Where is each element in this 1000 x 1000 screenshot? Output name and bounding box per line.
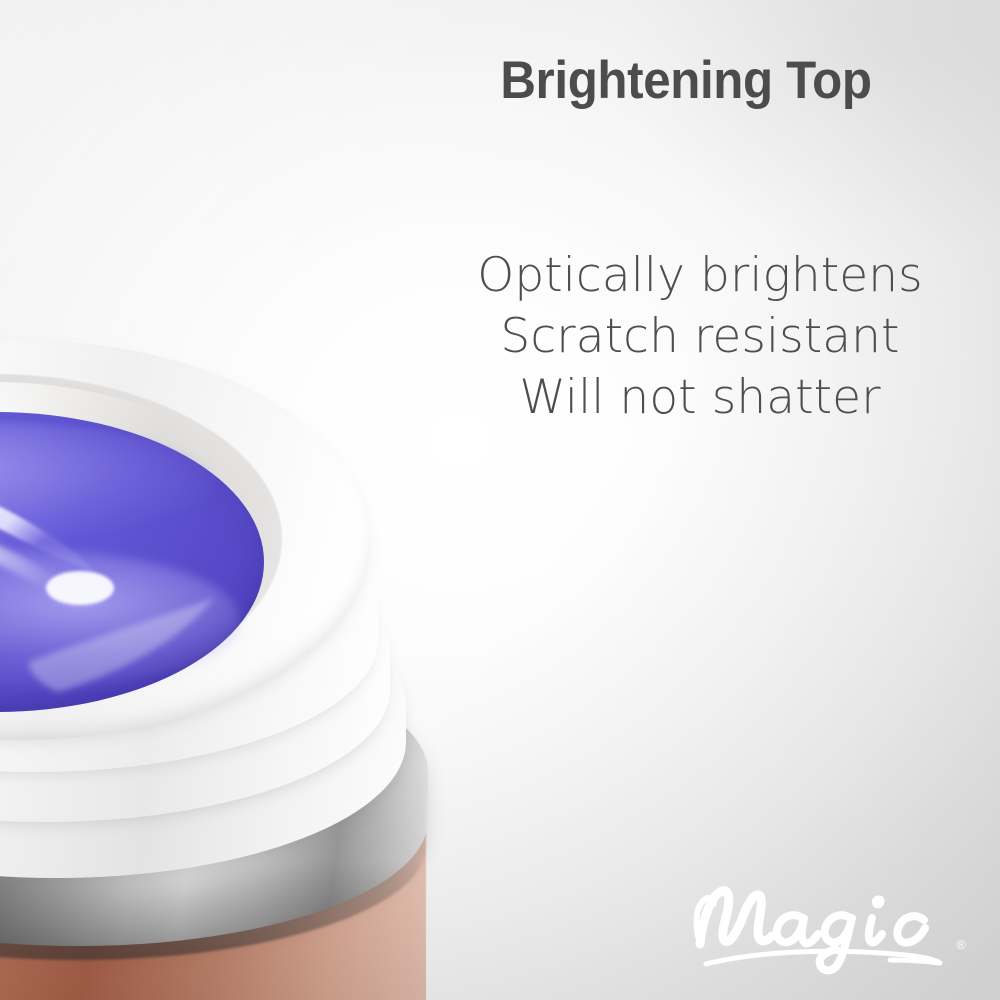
gel-gloss-highlight	[0, 412, 264, 712]
feature-item-3: Will not shatter	[400, 367, 1000, 428]
feature-list: Optically brightens Scratch resistant Wi…	[0, 245, 1000, 428]
feature-item-1: Optically brightens	[400, 245, 1000, 306]
page-title: Brightening Top	[35, 52, 965, 109]
registered-trademark-icon: ®	[956, 937, 966, 952]
brand-logo	[684, 868, 964, 978]
feature-item-2: Scratch resistant	[400, 306, 1000, 367]
product-banner: Brightening Top Optically brightens Scra…	[0, 0, 1000, 1000]
